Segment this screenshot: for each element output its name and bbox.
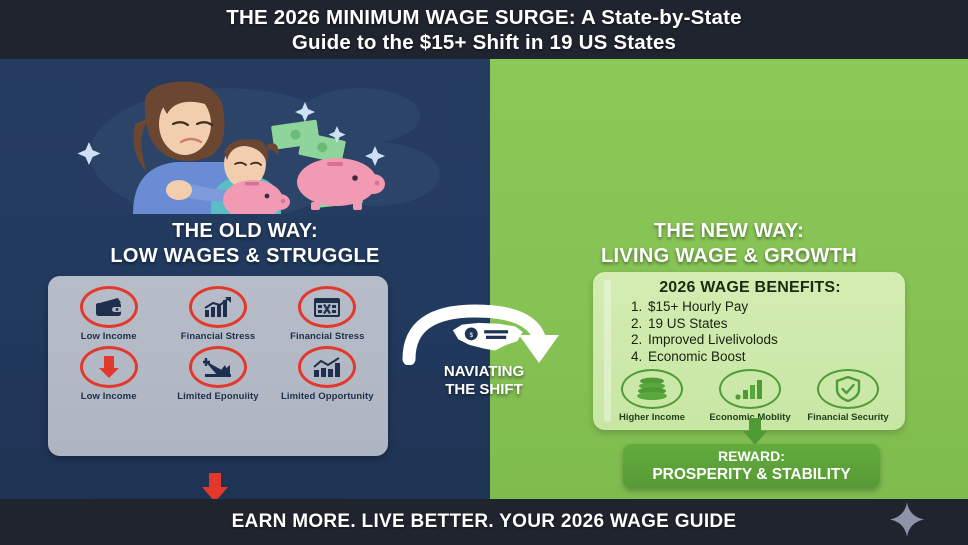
shield-check-icon [817,369,879,409]
old-way-icon-cell: Low Income [54,346,163,402]
down-arrow-icon [80,346,138,388]
new-way-icon-row: Higher Income Economic Moblity [603,369,897,423]
icon-label: Higher Income [619,412,685,423]
icon-label: Low Income [81,391,137,402]
old-way-icon-cell: Limited Opportunity [273,346,382,402]
icon-label: Low Income [81,331,137,342]
rising-bar-chart-icon [189,286,247,328]
benefit-item: 2.Improved Livelivolods [631,332,897,349]
old-way-icon-grid: Low Income [54,286,382,402]
footer-banner: EARN MORE. LIVE BETTER. YOUR 2026 WAGE G… [0,499,968,545]
header-banner: THE 2026 MINIMUM WAGE SURGE: A State-by-… [0,0,968,59]
four-point-star-icon [890,503,924,542]
icon-label: Financial Stress [290,331,364,342]
benefit-number: 1. [631,299,648,316]
benefits-list: 1.$15+ Hourly Pay 2.19 US States 2.Impro… [631,299,897,365]
benefit-text: Improved Livelivolods [648,332,778,347]
benefit-number: 2. [631,316,648,333]
us-map-icon: $ [453,323,523,351]
header-title-line1: THE 2026 MINIMUM WAGE SURGE: A State-by-… [226,5,742,30]
benefit-item: 1.$15+ Hourly Pay [631,299,897,316]
old-way-panel: THE OLD WAY: LOW WAGES & STRUGGLE [0,59,490,499]
icon-label: Limited Opportunity [281,391,374,402]
svg-text:$: $ [469,332,473,339]
new-way-icon-cell: Financial Security [799,369,897,423]
footer-text: EARN MORE. LIVE BETTER. YOUR 2026 WAGE G… [232,511,737,533]
icon-label: Financial Stress [181,331,255,342]
header-title-line2: Guide to the $15+ Shift in 19 US States [292,30,676,55]
icon-label: Financial Security [807,412,888,423]
benefit-text: Economic Boost [648,349,746,364]
benefit-number: 4. [631,349,648,366]
navigating-the-shift-badge: $ NAVIATING THE SHIFT [399,303,569,408]
old-way-card: Low Income [48,276,388,456]
benefit-text: $15+ Hourly Pay [648,299,748,314]
curved-down-arrow-icon: $ [399,303,569,365]
old-way-illustration [75,74,450,214]
old-way-icon-cell: Low Income [54,286,163,342]
shift-caption-line2: THE SHIFT [399,381,569,399]
wallet-icon [80,286,138,328]
old-way-heading: THE OLD WAY: LOW WAGES & STRUGGLE [0,219,490,269]
reward-outcome-box: REWARD: PROSPERITY & STABILITY [623,444,880,488]
reward-label-line2: PROSPERITY & STABILITY [652,465,850,484]
benefit-item: 2.19 US States [631,316,897,333]
shift-caption-line1: NAVIATING [399,363,569,381]
benefit-text: 19 US States [648,316,728,331]
declining-arrow-icon [189,346,247,388]
new-way-heading-line2: LIVING WAGE & GROWTH [490,244,968,269]
old-way-icon-cell: Financial Stress [273,286,382,342]
bar-chart-growth-icon [719,369,781,409]
coin-stack-icon [621,369,683,409]
new-way-icon-cell: Economic Moblity [701,369,799,423]
shift-caption: NAVIATING THE SHIFT [399,363,569,399]
infographic-root: THE 2026 MINIMUM WAGE SURGE: A State-by-… [0,0,968,545]
new-way-heading: THE NEW WAY: LIVING WAGE & GROWTH [490,219,968,269]
old-way-heading-line1: THE OLD WAY: [0,219,490,244]
benefit-item: 4.Economic Boost [631,349,897,366]
reward-label-line1: REWARD: [718,448,785,465]
old-way-icon-cell: Limited Eponuiity [163,346,272,402]
calendar-icon [298,286,356,328]
bar-chart-line-icon [298,346,356,388]
old-way-icon-cell: Financial Stress [163,286,272,342]
old-way-heading-line2: LOW WAGES & STRUGGLE [0,244,490,269]
benefit-number: 2. [631,332,648,349]
new-way-icon-cell: Higher Income [603,369,701,423]
benefits-title: 2026 WAGE BENEFITS: [603,278,897,298]
new-way-benefits-card: 2026 WAGE BENEFITS: 1.$15+ Hourly Pay 2.… [593,272,905,430]
icon-label: Limited Eponuiity [177,391,258,402]
new-way-heading-line1: THE NEW WAY: [490,219,968,244]
